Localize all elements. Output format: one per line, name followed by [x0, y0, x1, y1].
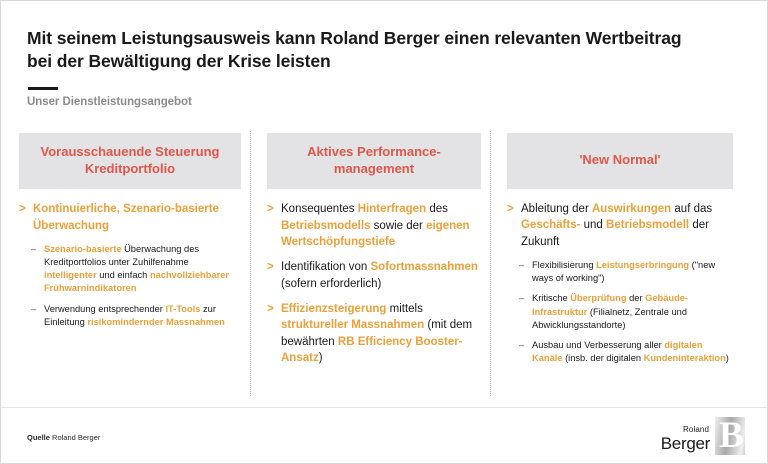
column-divider-1: [250, 131, 251, 396]
text-run-highlight: Betriebsmodell: [606, 219, 692, 231]
column-header: Vorausschauende Steuerung Kreditportfoli…: [19, 133, 241, 189]
bullet-secondary: –Kritische Überprüfung der Gebäude-Infra…: [507, 292, 733, 332]
text-run-highlight: intelligenter: [44, 270, 99, 280]
page-subtitle: Unser Dienstleistungsangebot: [27, 96, 192, 108]
logo-line-roland: Roland: [661, 426, 709, 434]
slide-canvas: Mit seinem Leistungsausweis kann Roland …: [0, 0, 768, 464]
bullet-secondary: –Ausbau und Verbesserung aller digitalen…: [507, 339, 733, 365]
bullet-marker-chevron-icon: >: [267, 259, 274, 275]
column-divider-2: [490, 131, 491, 396]
column-header: 'New Normal': [507, 133, 733, 189]
bullet-secondary: –Flexibilisierung Leistungserbringung ("…: [507, 259, 733, 285]
column-body: >Konsequentes Hinterfragen des Betriebsm…: [267, 189, 481, 366]
column-header: Aktives Performance-management: [267, 133, 481, 189]
text-run-plain: Ableitung der: [521, 203, 592, 215]
text-run-plain: und: [584, 219, 606, 231]
logo-line-berger: Berger: [661, 435, 710, 452]
text-run-highlight: IT-Tools: [165, 304, 203, 314]
text-run-highlight: Betriebsmodells: [281, 220, 374, 232]
bullet-primary: >Effizienzsteigerung mittels strukturell…: [267, 301, 481, 366]
text-run-plain: der: [629, 293, 645, 303]
text-run-plain: Ausbau und Verbesserung aller: [532, 340, 664, 350]
text-run-highlight: Geschäfts-: [521, 219, 584, 231]
bullet-secondary: –Szenario-basierte Überwachung des Kredi…: [19, 243, 241, 296]
logo-b-glyph: B: [719, 418, 744, 454]
source-note: Quelle Roland Berger: [27, 433, 100, 442]
column-new-normal: 'New Normal' >Ableitung der Auswirkungen…: [507, 133, 733, 372]
bullet-primary: >Identifikation von Sofortmassnahmen (so…: [267, 259, 481, 292]
page-title: Mit seinem Leistungsausweis kann Roland …: [27, 27, 687, 73]
bullet-marker-chevron-icon: >: [267, 201, 274, 217]
bullet-marker-chevron-icon: >: [19, 201, 26, 217]
bullet-marker-dash-icon: –: [519, 339, 524, 352]
roland-berger-logo: Roland Berger B: [661, 415, 745, 455]
bullet-primary: >Konsequentes Hinterfragen des Betriebsm…: [267, 201, 481, 250]
text-run-highlight: Auswirkungen: [592, 203, 674, 215]
text-run-highlight: struktureller Massnahmen: [281, 319, 427, 331]
source-value: Roland Berger: [52, 433, 100, 442]
source-label: Quelle: [27, 433, 50, 442]
bullet-primary: >Kontinuierliche, Szenario-basierte Über…: [19, 201, 241, 234]
column-kreditportfolio: Vorausschauende Steuerung Kreditportfoli…: [19, 133, 241, 336]
bullet-primary: >Ableitung der Auswirkungen auf das Gesc…: [507, 201, 733, 250]
text-run-plain: (insb. der digitalen: [565, 353, 644, 363]
text-run-plain: mittels: [390, 303, 423, 315]
text-run-plain: Identifikation von: [281, 261, 371, 273]
bullet-secondary: –Verwendung entsprechender IT-Tools zur …: [19, 303, 241, 329]
text-run-plain: Konsequentes: [281, 203, 358, 215]
text-run-plain: ): [319, 352, 323, 364]
text-run-plain: Kritische: [532, 293, 570, 303]
column-body: >Ableitung der Auswirkungen auf das Gesc…: [507, 189, 733, 365]
text-run-highlight: Kontinuierliche, Szenario-basierte Überw…: [33, 203, 219, 231]
text-run-highlight: Überprüfung: [570, 293, 629, 303]
bullet-marker-dash-icon: –: [519, 292, 524, 305]
text-run-highlight: Sofortmassnahmen: [371, 261, 478, 273]
text-run-highlight: risikomindernder Massnahmen: [87, 317, 224, 327]
bullet-marker-dash-icon: –: [519, 259, 524, 272]
text-run-highlight: Kundeninteraktion: [644, 353, 726, 363]
text-run-highlight: Hinterfragen: [358, 203, 430, 215]
logo-b-mark-icon: B: [715, 417, 745, 455]
bullet-marker-chevron-icon: >: [267, 301, 274, 317]
text-run-plain: auf das: [674, 203, 712, 215]
logo-wordmark: Roland Berger: [661, 426, 715, 455]
text-run-plain: sowie der: [374, 220, 426, 232]
bullet-marker-dash-icon: –: [31, 243, 36, 256]
text-run-highlight: Szenario-basierte: [44, 244, 124, 254]
column-body: >Kontinuierliche, Szenario-basierte Über…: [19, 189, 241, 329]
text-run-plain: des: [429, 203, 448, 215]
text-run-plain: Verwendung entsprechender: [44, 304, 165, 314]
text-run-plain: und einfach: [99, 270, 150, 280]
footer-divider: [1, 407, 768, 408]
text-run-highlight: Effizienzsteigerung: [281, 303, 390, 315]
text-run-plain: (sofern erforderlich): [281, 278, 381, 290]
column-performancemanagement: Aktives Performance-management >Konseque…: [267, 133, 481, 375]
text-run-plain: ): [726, 353, 729, 363]
text-run-plain: Flexibilisierung: [532, 260, 596, 270]
title-rule: [28, 87, 58, 90]
text-run-highlight: Leistungserbringung: [596, 260, 692, 270]
bullet-marker-chevron-icon: >: [507, 201, 514, 217]
bullet-marker-dash-icon: –: [31, 303, 36, 316]
